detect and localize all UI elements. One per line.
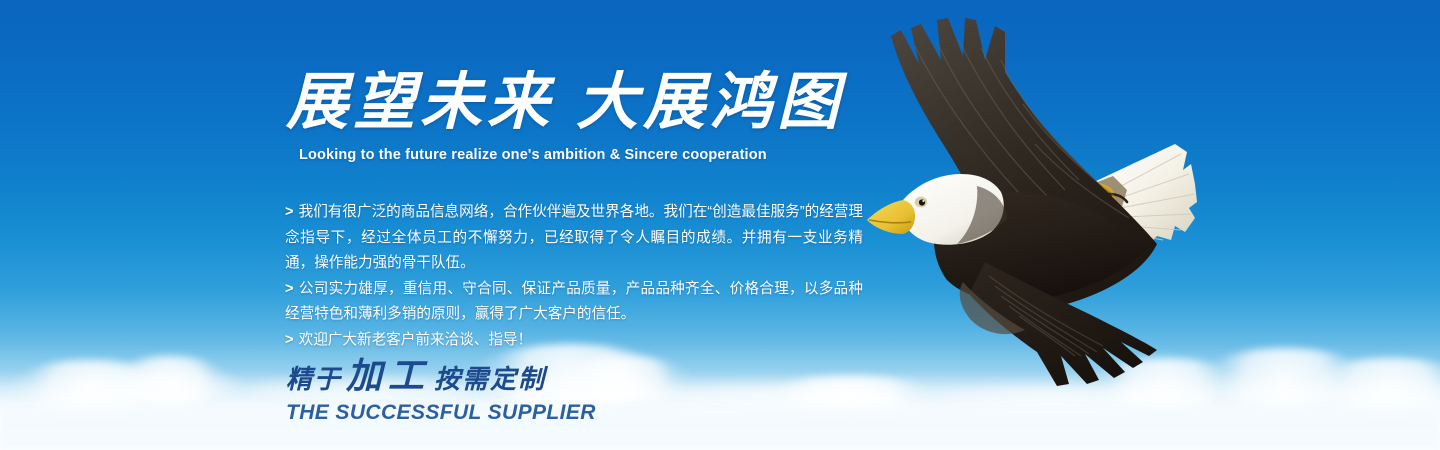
headline-part-1: 展望未来 [286, 69, 554, 137]
bullet-marker: > [285, 332, 295, 348]
company-hero-banner: 展望未来大展鸿图 Looking to the future realize o… [0, 0, 1440, 450]
bullet-marker: > [285, 281, 295, 297]
slogan-cn-prefix: 精于 [286, 365, 342, 394]
slogan-cn-suffix: 按需定制 [434, 365, 546, 394]
headline-part-2: 大展鸿图 [576, 69, 844, 137]
bullet-item: > 我们有很广泛的商品信息网络，合作伙伴遍及世界各地。我们在“创造最佳服务”的经… [285, 200, 863, 277]
bullet-text: 公司实力雄厚，重信用、守合同、保证产品质量，产品品种齐全、价格合理，以多品种经营… [285, 281, 863, 323]
slogan-chinese: 精于加工按需定制 [286, 358, 706, 394]
bullet-text: 我们有很广泛的商品信息网络，合作伙伴遍及世界各地。我们在“创造最佳服务”的经营理… [285, 204, 863, 271]
slogan-english: THE SUCCESSFUL SUPPLIER [286, 401, 706, 425]
slogan-cn-emphasis: 加工 [342, 356, 434, 396]
headline-subtitle: Looking to the future realize one's ambi… [299, 147, 767, 163]
feature-bullet-list: > 我们有很广泛的商品信息网络，合作伙伴遍及世界各地。我们在“创造最佳服务”的经… [285, 200, 863, 353]
bald-eagle-icon [845, 0, 1265, 394]
bullet-text: 欢迎广大新老客户前来洽谈、指导！ [299, 332, 533, 348]
company-slogan: 精于加工按需定制 THE SUCCESSFUL SUPPLIER [286, 358, 706, 425]
bullet-marker: > [285, 204, 295, 220]
bullet-item: > 欢迎广大新老客户前来洽谈、指导！ [285, 328, 863, 354]
bullet-item: > 公司实力雄厚，重信用、守合同、保证产品质量，产品品种齐全、价格合理，以多品种… [285, 277, 863, 328]
headline: 展望未来大展鸿图 [286, 72, 844, 134]
